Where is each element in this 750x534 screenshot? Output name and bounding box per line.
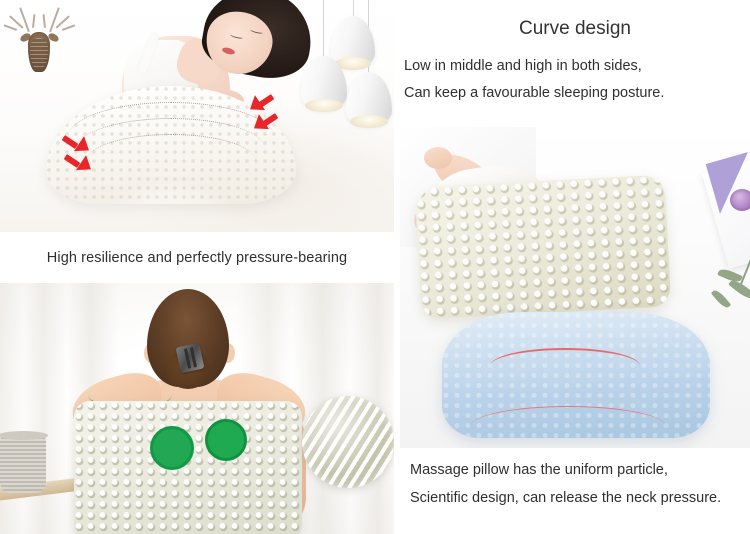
contour-arc-upper — [490, 348, 640, 384]
product-feature-collage: High resilience and perfectly pressure-b… — [0, 0, 750, 534]
contour-arc-lower — [470, 406, 666, 447]
flower-and-paper-decor — [710, 135, 750, 325]
flower-leaf-4 — [711, 288, 731, 310]
curve-design-line-2: Can keep a favourable sleeping posture. — [404, 85, 664, 101]
curve-design-text-block: Curve design Low in middle and high in b… — [400, 0, 750, 127]
sleeping-woman-with-arrows-photo — [0, 0, 394, 232]
woven-basket — [0, 435, 46, 493]
vertical-gutter — [394, 0, 400, 534]
caption-massage-line-1: Massage pillow has the uniform particle, — [410, 462, 668, 478]
purple-flower-1 — [730, 189, 750, 211]
massage-pillow — [74, 401, 302, 534]
pillow-particle-texture — [74, 401, 302, 534]
pressure-point-dot-right — [205, 419, 247, 461]
cream-massage-pillow — [415, 175, 672, 320]
curve-design-line-1: Low in middle and high in both sides, — [404, 58, 642, 74]
caption-massage-pillow: Massage pillow has the uniform particle,… — [400, 448, 750, 534]
caption-massage-line-2: Scientific design, can release the neck … — [410, 490, 721, 506]
caption-high-resilience-text: High resilience and perfectly pressure-b… — [47, 250, 347, 266]
curve-design-title: Curve design — [400, 18, 750, 40]
pillow-particle-texture — [415, 175, 672, 320]
blue-contour-pillow — [442, 312, 710, 438]
hair-clip-icon — [176, 343, 205, 373]
texture-closeup-inset — [302, 396, 394, 488]
pressure-point-dot-left — [150, 426, 194, 470]
caption-high-resilience: High resilience and perfectly pressure-b… — [0, 232, 394, 283]
back-view-massage-pillow-photo — [0, 283, 394, 534]
deer-head-icon — [8, 2, 70, 76]
woman-lying-on-cream-pillow-photo — [400, 127, 750, 448]
